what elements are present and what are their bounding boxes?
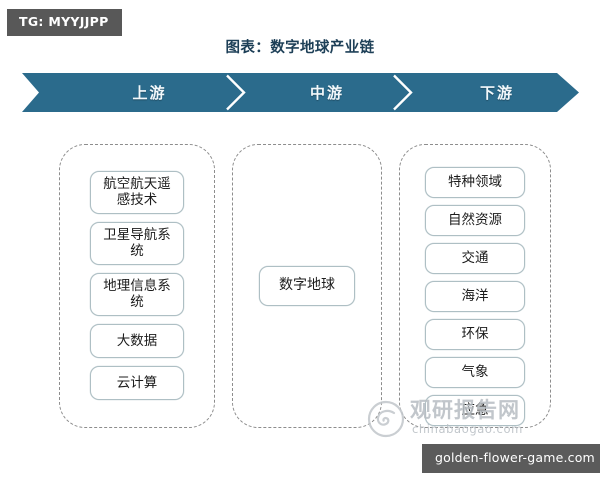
node-item: 卫星导航系统 (90, 222, 184, 265)
value-chain-banner: 上游 中游 下游 (22, 73, 579, 112)
url-plate-label: golden-flower-game.com (435, 450, 595, 465)
column-upstream: 航空航天遥感技术 卫星导航系统 地理信息系统 大数据 云计算 (59, 144, 215, 428)
page-title: 图表：数字地球产业链 (0, 36, 600, 57)
node-item: 环保 (425, 319, 525, 350)
node-item: 数字地球 (259, 266, 355, 306)
banner-arrow-shape (22, 73, 579, 112)
node-item: 航空航天遥感技术 (90, 171, 184, 214)
column-downstream: 特种领域 自然资源 交通 海洋 环保 气象 应急 (399, 144, 551, 428)
node-item: 海洋 (425, 281, 525, 312)
node-item: 云计算 (90, 366, 184, 400)
column-midstream: 数字地球 (232, 144, 382, 428)
node-item: 特种领域 (425, 167, 525, 198)
value-chain-columns: 航空航天遥感技术 卫星导航系统 地理信息系统 大数据 云计算 数字地球 特种领域… (0, 144, 600, 428)
node-item: 气象 (425, 357, 525, 388)
node-item: 应急 (425, 395, 525, 426)
node-item: 大数据 (90, 324, 184, 358)
tg-tag-label: TG: MYYJJPP (19, 14, 109, 29)
tg-tag: TG: MYYJJPP (7, 9, 122, 36)
node-item: 地理信息系统 (90, 273, 184, 316)
node-item: 交通 (425, 243, 525, 274)
node-item: 自然资源 (425, 205, 525, 236)
url-plate: golden-flower-game.com (422, 444, 600, 473)
